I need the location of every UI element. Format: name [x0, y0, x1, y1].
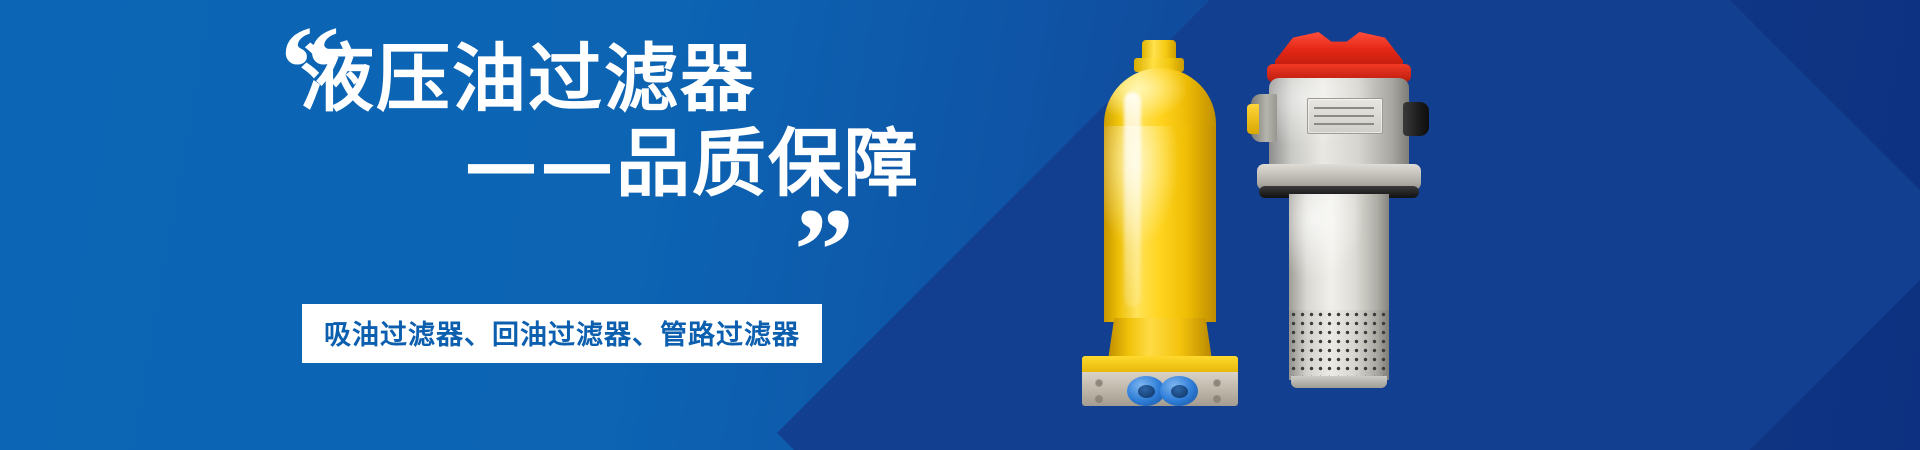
return-filter-mesh-screen [1289, 310, 1389, 380]
filter-taper [1108, 318, 1212, 360]
return-filter-foot [1291, 376, 1387, 388]
filter-port-bore-left [1138, 385, 1155, 398]
filter-bolt [1096, 396, 1102, 402]
filter-bolt [1214, 396, 1220, 402]
subtitle-badge: 吸油过滤器、回油过滤器、管路过滤器 [302, 304, 822, 363]
promo-banner: “ 液压油过滤器 ——品质保障 „ 吸油过滤器、回油过滤器、管路过滤器 [0, 0, 1920, 450]
filter-bolt [1214, 380, 1220, 386]
return-filter-nameplate [1307, 98, 1383, 134]
product-yellow-filter-image [1080, 40, 1240, 380]
filter-bolt [1096, 380, 1102, 386]
close-quote-mark: „ [795, 128, 855, 248]
return-filter-canister [1289, 194, 1389, 314]
return-filter-yellow-tab [1247, 104, 1259, 134]
return-filter-black-knob [1403, 102, 1429, 136]
product-grey-filter-image [1245, 32, 1435, 392]
filter-body [1104, 126, 1216, 322]
filter-port-bore-right [1171, 385, 1188, 398]
filter-highlight [1124, 92, 1141, 307]
headline-line-1: 液压油过滤器 [300, 42, 920, 117]
